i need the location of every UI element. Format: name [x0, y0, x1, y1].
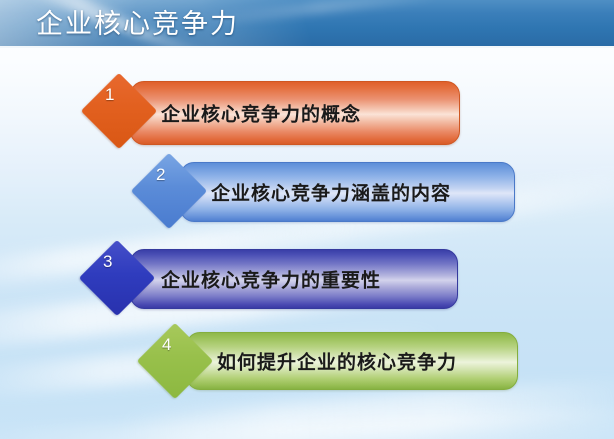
- item-bar-4[interactable]: 如何提升企业的核心竞争力: [186, 332, 518, 390]
- title-banner: 企业核心竞争力: [0, 0, 614, 48]
- item-number-3: 3: [103, 252, 112, 272]
- item-number-2: 2: [156, 165, 165, 185]
- item-label-2: 企业核心竞争力涵盖的内容: [211, 179, 451, 206]
- page-title: 企业核心竞争力: [36, 4, 239, 44]
- item-bar-3[interactable]: 企业核心竞争力的重要性: [130, 249, 458, 309]
- slide-canvas: 企业核心竞争力 企业核心竞争力的概念 1 企业核心竞争力涵盖的内容 2 企业核心…: [0, 0, 614, 439]
- item-number-1: 1: [105, 85, 114, 105]
- item-label-4: 如何提升企业的核心竞争力: [217, 348, 457, 375]
- item-bar-2[interactable]: 企业核心竞争力涵盖的内容: [180, 162, 515, 222]
- item-label-3: 企业核心竞争力的重要性: [161, 266, 381, 293]
- item-number-4: 4: [162, 335, 171, 355]
- item-bar-1[interactable]: 企业核心竞争力的概念: [130, 81, 460, 145]
- cloud-streak: [0, 406, 614, 439]
- item-label-1: 企业核心竞争力的概念: [161, 100, 361, 127]
